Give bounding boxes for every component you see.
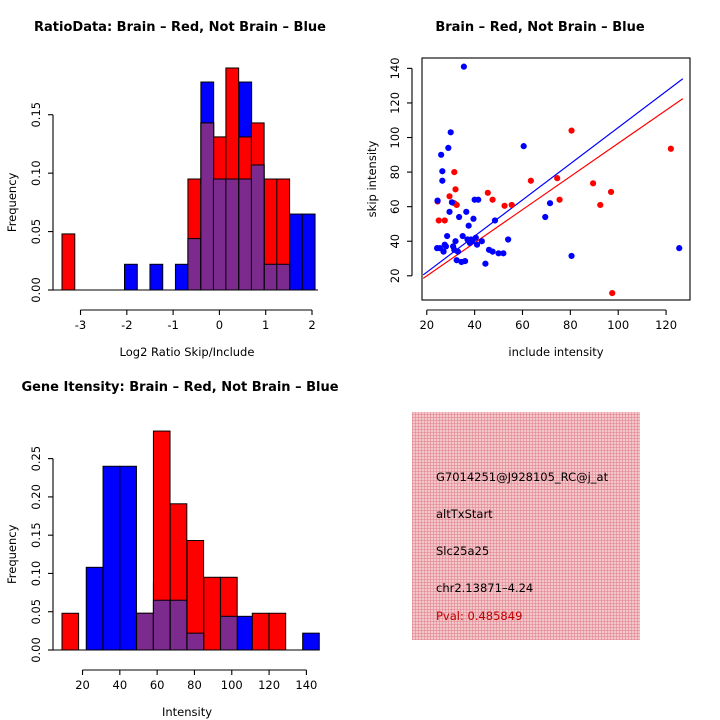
scatter-point [462, 258, 468, 264]
x-axis-tick-label: 100 [607, 318, 629, 332]
scatter-point [542, 214, 548, 220]
scatter-point [451, 169, 457, 175]
scatter-point [449, 199, 455, 205]
scatter-point [446, 209, 452, 215]
x-axis-tick-label: 60 [515, 318, 530, 332]
x-axis-tick-label: 120 [258, 678, 280, 692]
panel-scatter: Brain – Red, Not Brain – Blue 2040608010… [360, 0, 720, 360]
histogram-bar-not-brain [303, 633, 320, 650]
histogram-bar-not-brain [86, 567, 103, 650]
histogram-bar-overlap [187, 633, 204, 650]
histogram-bar-overlap [277, 264, 290, 290]
scatter-point [452, 186, 458, 192]
scatter-point [442, 217, 448, 223]
histogram-bar-overlap [239, 179, 252, 290]
histogram-bar-brain [62, 613, 79, 650]
histogram-bar-not-brain [125, 264, 138, 290]
histogram-bar-overlap [137, 613, 154, 650]
scatter-point [597, 202, 603, 208]
figure-canvas: RatioData: Brain – Red, Not Brain – Blue… [0, 0, 720, 720]
histogram-bar-brain [204, 577, 221, 650]
panel-gene-info: G7014251@J928105_RC@j_at altTxStart Slc2… [360, 360, 720, 720]
histogram-bar-not-brain [175, 264, 188, 290]
histogram-bar-overlap [226, 179, 239, 290]
scatter-point [434, 198, 440, 204]
panel-gene-histogram: Gene Itensity: Brain – Red, Not Brain – … [0, 360, 360, 720]
scatter-point [475, 197, 481, 203]
x-axis-tick-label: 140 [295, 678, 317, 692]
histogram-bar-brain [269, 613, 286, 650]
scatter-point [556, 197, 562, 203]
info-event-type: altTxStart [436, 507, 493, 521]
y-axis-title: skip intensity [365, 140, 379, 217]
x-axis-tick-label: -3 [75, 318, 86, 332]
x-axis-tick-label: 20 [75, 678, 90, 692]
x-axis-tick-label: 1 [262, 318, 269, 332]
histogram-bar-overlap [213, 179, 226, 290]
y-axis-tick-label: 0.25 [29, 446, 43, 472]
scatter-point [676, 245, 682, 251]
histogram-bar-overlap [221, 616, 238, 650]
x-axis-tick-label: 120 [655, 318, 677, 332]
scatter-point [443, 243, 449, 249]
scatter-point [485, 190, 491, 196]
histogram-bar-not-brain [150, 264, 163, 290]
histogram-bar-brain [62, 234, 75, 290]
panel-ratio-histogram: RatioData: Brain – Red, Not Brain – Blue… [0, 0, 360, 360]
scatter-point [470, 216, 476, 222]
scatter-point [482, 261, 488, 267]
histogram-bar-overlap [264, 264, 277, 290]
histogram-bar-not-brain [237, 616, 254, 650]
histogram-bar-not-brain [103, 466, 120, 650]
x-axis-tick-label: 40 [113, 678, 128, 692]
scatter-point [568, 128, 574, 134]
info-gene-symbol: Slc25a25 [436, 544, 489, 558]
histogram-bar-overlap [188, 239, 201, 290]
y-axis-tick-label: 0.00 [29, 637, 43, 663]
y-axis-tick-label: 0.15 [29, 102, 43, 128]
scatter-point [444, 233, 450, 239]
x-axis-tick-label: 40 [467, 318, 482, 332]
scatter-point [448, 129, 454, 135]
x-axis-tick-label: 2 [308, 318, 315, 332]
info-pvalue: Pval: 0.485849 [436, 609, 522, 623]
x-axis-title: Intensity [162, 705, 212, 719]
scatter-point [446, 193, 452, 199]
scatter-point [492, 217, 498, 223]
x-axis-tick-label: -2 [121, 318, 132, 332]
histogram-bar-overlap [170, 600, 187, 650]
scatter-point [438, 152, 444, 158]
scatter-point [608, 189, 614, 195]
scatter-point [668, 146, 674, 152]
histogram-bar-overlap [251, 165, 264, 290]
y-axis-tick-label: 140 [388, 57, 402, 79]
scatter-point [439, 178, 445, 184]
x-axis-tick-label: 60 [150, 678, 165, 692]
y-axis-tick-label: 0.05 [29, 219, 43, 245]
histogram-bar-overlap [153, 600, 170, 650]
x-axis-tick-label: 80 [563, 318, 578, 332]
scatter-point [568, 253, 574, 259]
scatter-plot: 2040608010012020406080100120140include i… [360, 0, 720, 360]
gene-info-box: G7014251@J928105_RC@j_at altTxStart Slc2… [412, 412, 640, 640]
y-axis-tick-label: 0.05 [29, 599, 43, 625]
info-locus: chr2.13871–4.24 [436, 581, 533, 595]
y-axis-tick-label: 40 [388, 234, 402, 249]
x-axis-tick-label: -1 [167, 318, 178, 332]
scatter-point [452, 238, 458, 244]
scatter-point [501, 203, 507, 209]
info-probe-id: G7014251@J928105_RC@j_at [436, 470, 608, 484]
scatter-point [500, 250, 506, 256]
y-axis-title: Frequency [5, 524, 19, 584]
histogram-bar-overlap [201, 123, 214, 290]
scatter-point [466, 223, 472, 229]
scatter-point [590, 180, 596, 186]
scatter-point [479, 238, 485, 244]
scatter-point [489, 197, 495, 203]
y-axis-tick-label: 0.00 [29, 277, 43, 303]
y-axis-tick-label: 60 [388, 199, 402, 214]
histogram-bar-not-brain [120, 466, 137, 650]
scatter-point [528, 178, 534, 184]
scatter-point [554, 175, 560, 181]
scatter-point [505, 236, 511, 242]
scatter-point [461, 64, 467, 70]
y-axis-tick-label: 20 [388, 268, 402, 283]
regression-line [423, 99, 683, 279]
scatter-point [473, 235, 479, 241]
x-axis-tick-label: 100 [221, 678, 243, 692]
ratio-histogram-plot: 0.000.050.100.15-3-2-1012Log2 Ratio Skip… [0, 0, 360, 360]
scatter-point [547, 200, 553, 206]
histogram-bar-not-brain [290, 214, 303, 290]
y-axis-tick-label: 0.10 [29, 160, 43, 186]
scatter-point [456, 214, 462, 220]
y-axis-tick-label: 120 [388, 92, 402, 114]
y-axis-tick-label: 0.15 [29, 522, 43, 548]
y-axis-tick-label: 0.20 [29, 484, 43, 510]
histogram-bar-brain [252, 613, 269, 650]
y-axis-tick-label: 0.10 [29, 561, 43, 587]
histogram-bar-not-brain [302, 214, 315, 290]
scatter-point [509, 202, 515, 208]
y-axis-tick-label: 80 [388, 165, 402, 180]
scatter-point [489, 249, 495, 255]
scatter-point [609, 290, 615, 296]
scatter-point [455, 249, 461, 255]
scatter-point [436, 217, 442, 223]
scatter-point [445, 145, 451, 151]
y-axis-title: Frequency [5, 172, 19, 232]
y-axis-tick-label: 100 [388, 127, 402, 149]
scatter-point [521, 143, 527, 149]
regression-line [423, 79, 683, 275]
gene-histogram-plot: 0.000.050.100.150.200.252040608010012014… [0, 360, 360, 720]
x-axis-tick-label: 80 [187, 678, 202, 692]
x-axis-title: Log2 Ratio Skip/Include [120, 345, 255, 359]
scatter-point [439, 168, 445, 174]
x-axis-tick-label: 20 [419, 318, 434, 332]
x-axis-tick-label: 0 [216, 318, 223, 332]
x-axis-title: include intensity [508, 345, 603, 359]
scatter-point [463, 209, 469, 215]
